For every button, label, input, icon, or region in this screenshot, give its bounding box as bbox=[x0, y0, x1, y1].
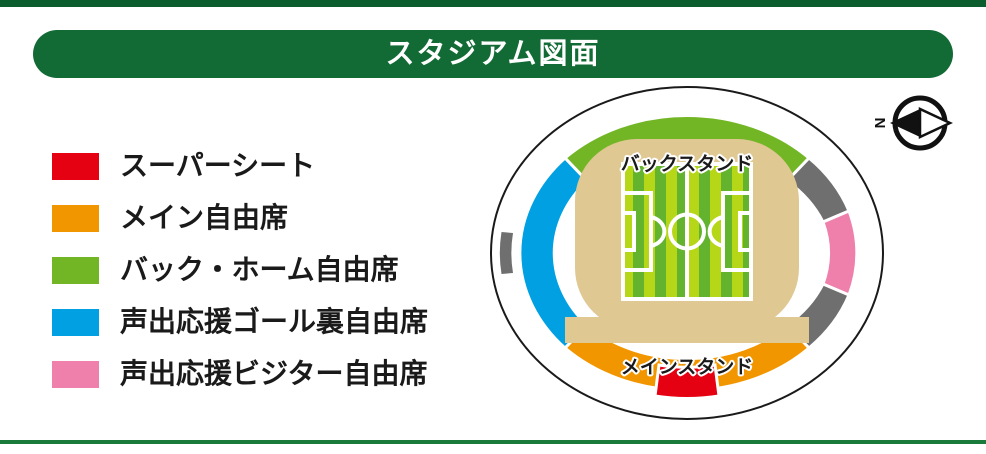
stadium-map-page: スタジアム図面 スーパーシート メイン自由席 バック・ホーム自由席 声出応援ゴー… bbox=[0, 0, 986, 454]
closed-seating-segments bbox=[500, 232, 513, 274]
legend-swatch-super-seat bbox=[52, 153, 99, 180]
legend-item-back-home-free-seat: バック・ホーム自由席 bbox=[52, 244, 472, 296]
legend-label-cheer-visitor-free-seat: 声出応援ビジター自由席 bbox=[120, 360, 427, 388]
bottom-divider bbox=[0, 440, 986, 444]
top-divider bbox=[0, 0, 986, 7]
legend-swatch-main-free-seat bbox=[52, 205, 99, 232]
legend-item-cheer-visitor-free-seat: 声出応援ビジター自由席 bbox=[52, 348, 472, 400]
segment-cheer-visitor-free-seat bbox=[823, 211, 857, 295]
legend-label-super-seat: スーパーシート bbox=[120, 152, 315, 180]
legend-item-super-seat: スーパーシート bbox=[52, 140, 472, 192]
legend-swatch-cheer-visitor-free-seat bbox=[52, 361, 99, 388]
legend-label-main-free-seat: メイン自由席 bbox=[120, 204, 288, 232]
legend-item-cheer-goal-back-free-seat: 声出応援ゴール裏自由席 bbox=[52, 296, 472, 348]
page-title-banner: スタジアム図面 bbox=[33, 30, 953, 78]
stadium-label-back-stand: バックスタンド bbox=[621, 153, 753, 175]
legend-label-cheer-goal-back-free-seat: 声出応援ゴール裏自由席 bbox=[120, 308, 428, 336]
legend-item-main-free-seat: メイン自由席 bbox=[52, 192, 472, 244]
closed-segment-west bbox=[500, 232, 513, 274]
legend-label-back-home-free-seat: バック・ホーム自由席 bbox=[120, 256, 399, 284]
page-title: スタジアム図面 bbox=[386, 40, 601, 69]
legend-swatch-cheer-goal-back-free-seat bbox=[52, 309, 99, 336]
track-apron bbox=[565, 317, 809, 343]
stadium-label-main-stand: メインスタンド bbox=[621, 356, 754, 378]
legend-swatch-back-home-free-seat bbox=[52, 257, 99, 284]
stadium-diagram: バックスタンド メインスタンド bbox=[487, 83, 887, 423]
legend: スーパーシート メイン自由席 バック・ホーム自由席 声出応援ゴール裏自由席 声出… bbox=[52, 140, 472, 400]
pitch bbox=[623, 164, 754, 299]
compass-north-label: N bbox=[872, 118, 889, 129]
compass-rose: N bbox=[872, 90, 954, 160]
